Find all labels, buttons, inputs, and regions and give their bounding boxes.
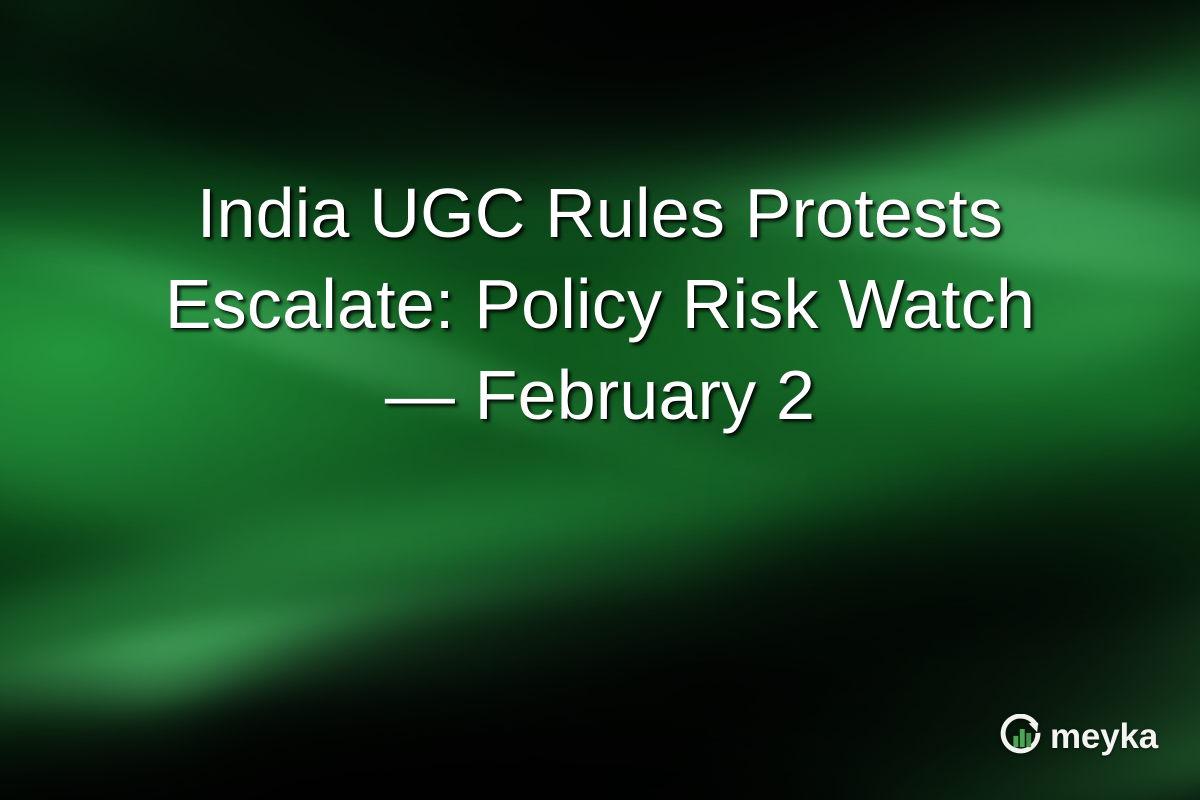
brand-logo[interactable]: meyka [1000,714,1158,758]
wave-shadow-bottom [0,648,907,800]
brand-wordmark: meyka [1050,719,1158,754]
wave-filament-lower-left [0,513,1061,751]
meyka-ring-bars-logo-icon [1000,714,1044,758]
page-title: India UGC Rules Protests Escalate: Polic… [40,168,1160,441]
share-banner: India UGC Rules Protests Escalate: Polic… [0,0,1200,800]
wave-band-bottom-right [530,527,1200,800]
headline-container: India UGC Rules Protests Escalate: Polic… [0,168,1200,441]
